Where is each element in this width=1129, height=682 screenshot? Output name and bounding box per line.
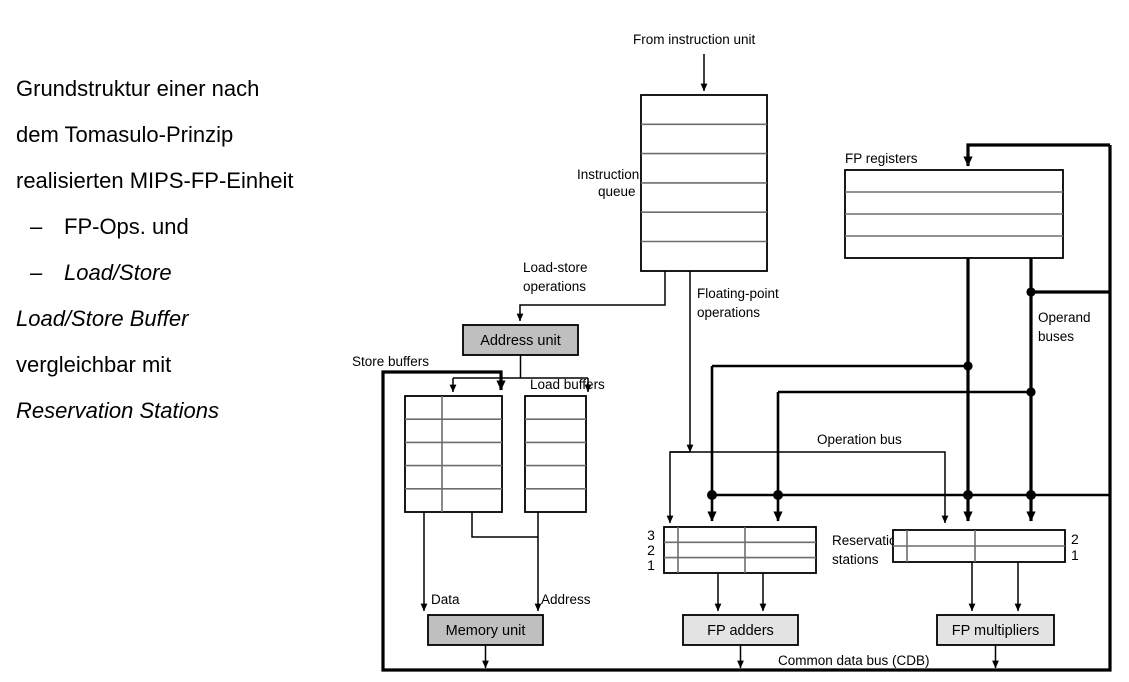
label-data: Data [431, 592, 460, 607]
label-load-store-ops-line1: Load-store [523, 260, 588, 275]
fp-multipliers-box: FP multipliers [937, 615, 1054, 645]
tomasulo-diagram: From instruction unit Instruction queue … [0, 0, 1129, 682]
label-instruction-queue-line2: queue [598, 184, 636, 199]
label-address: Address [541, 592, 591, 607]
memory-unit-box: Memory unit [428, 615, 543, 645]
label-address-unit: Address unit [480, 333, 561, 349]
label-load-store-ops-line2: operations [523, 279, 586, 294]
label-store-buffers: Store buffers [352, 354, 429, 369]
fp-adders-box: FP adders [683, 615, 798, 645]
label-operation-bus: Operation bus [817, 432, 902, 447]
label-common-data-bus: Common data bus (CDB) [778, 653, 930, 668]
rs-right-row-number-2: 2 [1071, 531, 1079, 547]
label-reservation-stations-line2: stations [832, 552, 879, 567]
slide-root: Grundstruktur einer nach dem Tomasulo-Pr… [0, 0, 1129, 682]
instruction-queue-box [641, 95, 767, 271]
label-fp-registers: FP registers [845, 151, 918, 166]
label-operand-buses-line1: Operand [1038, 310, 1091, 325]
label-fp-adders: FP adders [707, 623, 774, 639]
store-buffers-box [405, 396, 502, 512]
fp-registers-box [845, 170, 1063, 258]
rs-left-row-number-1: 1 [647, 557, 655, 573]
label-fp-multipliers: FP multipliers [952, 623, 1040, 639]
rs-left-to-fp-adders [718, 573, 763, 611]
rs-left-row-number-3: 3 [647, 527, 655, 543]
operand-bus-lines: Operand buses [968, 258, 1110, 495]
label-fp-ops-line1: Floating-point [697, 286, 779, 301]
reservation-stations-left-box [664, 527, 816, 573]
operand-bus-branch-lower [778, 387, 1036, 521]
label-operand-buses-line2: buses [1038, 329, 1074, 344]
label-memory-unit: Memory unit [446, 623, 526, 639]
operand-bus-crossbar [707, 490, 1110, 521]
reservation-stations-right-box [893, 530, 1065, 562]
label-fp-ops-line2: operations [697, 305, 760, 320]
rs-right-to-fp-multipliers [972, 562, 1018, 611]
rs-left-row-number-2: 2 [647, 542, 655, 558]
rs-right-row-number-1: 1 [1071, 547, 1079, 563]
label-load-buffers: Load buffers [530, 377, 605, 392]
label-from-instruction-unit: From instruction unit [633, 32, 756, 47]
label-instruction-queue-line1: Instruction [577, 167, 639, 182]
address-unit-box: Address unit [463, 325, 578, 355]
load-buffers-box [525, 396, 586, 512]
